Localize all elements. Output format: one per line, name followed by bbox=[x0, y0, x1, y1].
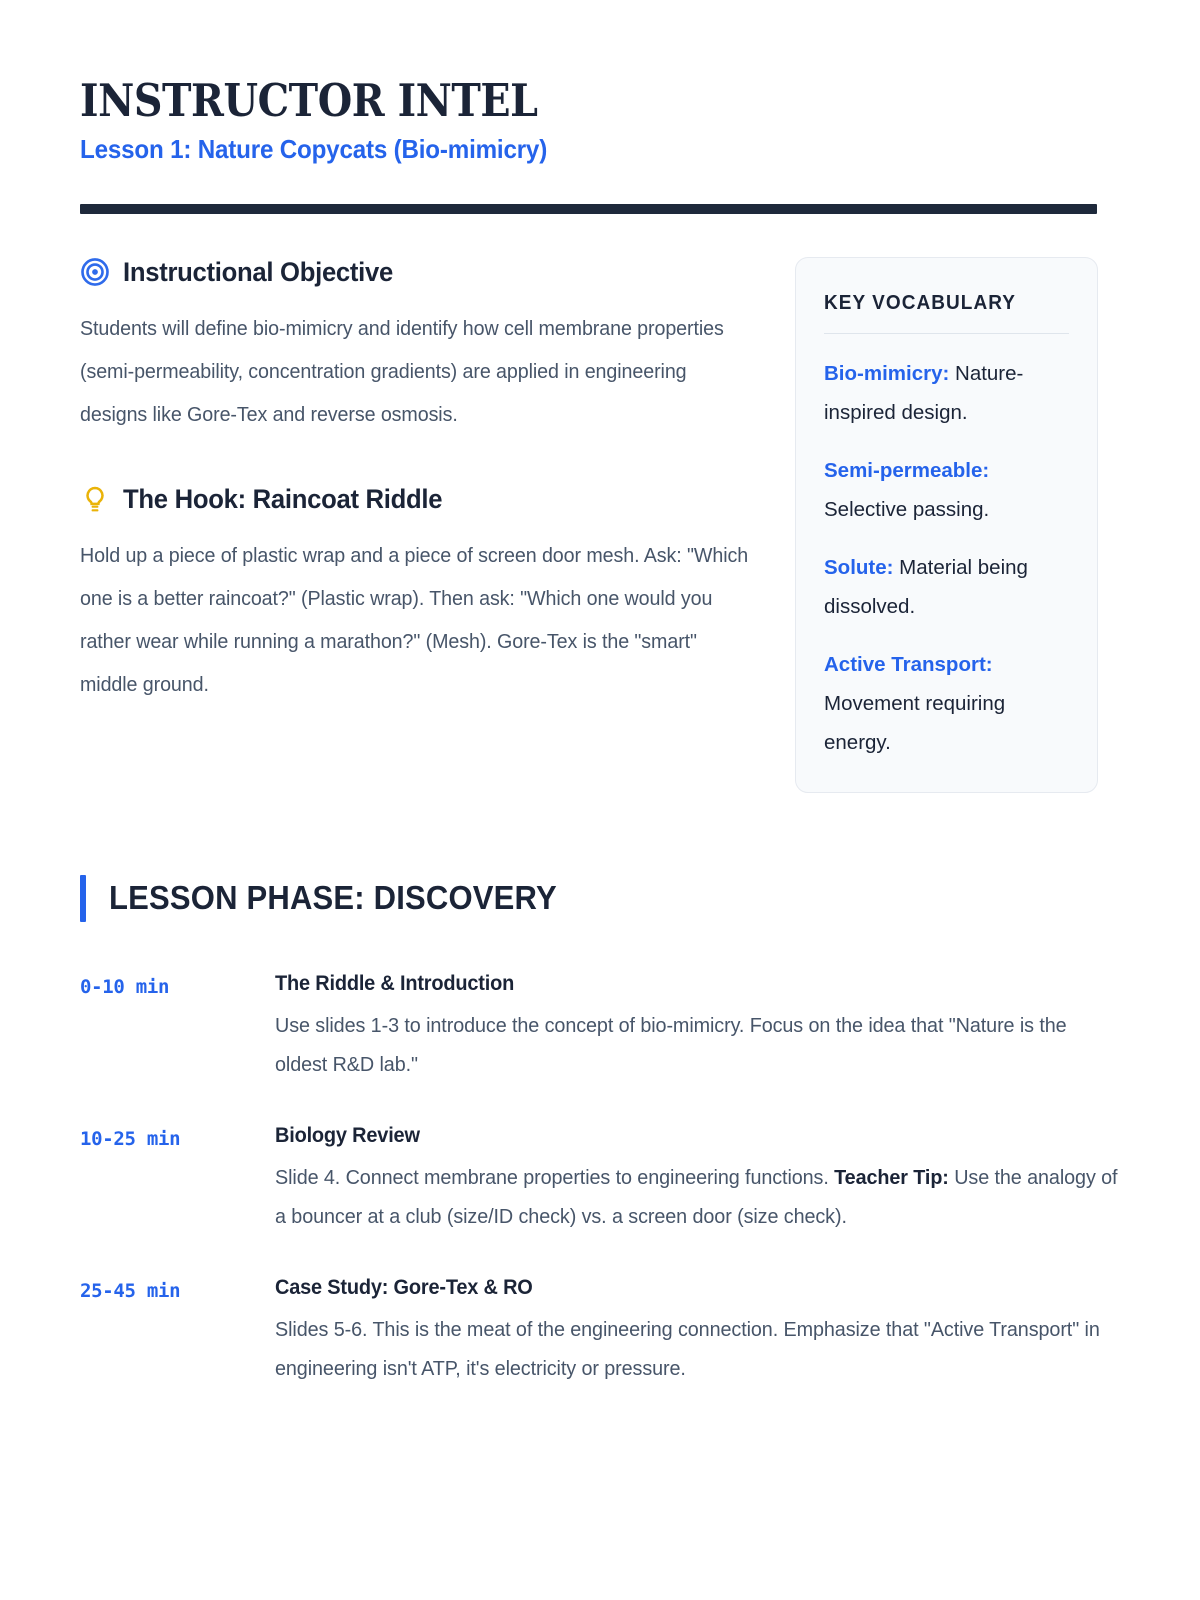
vocabulary-term: Bio-mimicry: bbox=[824, 362, 949, 385]
timeline-row: 25-45 min Case Study: Gore-Tex & RO Slid… bbox=[80, 1271, 1120, 1388]
objective-heading: Instructional Objective bbox=[123, 257, 393, 288]
timeline-time: 0-10 min bbox=[80, 967, 275, 1004]
vocabulary-divider bbox=[824, 333, 1069, 334]
timeline-desc-pre: Slides 5-6. This is the meat of the engi… bbox=[275, 1318, 1100, 1380]
vocabulary-term: Semi-permeable: bbox=[824, 459, 989, 482]
main-content: Instructional Objective Students will de… bbox=[80, 257, 1120, 793]
lightbulb-icon bbox=[80, 484, 110, 514]
hook-section: The Hook: Raincoat Riddle Hold up a piec… bbox=[80, 484, 756, 706]
lesson-phase-heading: LESSON PHASE: DISCOVERY bbox=[109, 879, 557, 917]
timeline-time: 10-25 min bbox=[80, 1119, 275, 1156]
vocabulary-title: KEY VOCABULARY bbox=[824, 292, 1057, 315]
timeline-title: Case Study: Gore-Tex & RO bbox=[275, 1271, 1078, 1305]
vocabulary-definition: Selective passing. bbox=[824, 498, 989, 521]
vocabulary-term: Active Transport: bbox=[824, 653, 993, 676]
hook-heading: The Hook: Raincoat Riddle bbox=[123, 484, 442, 515]
timeline-title: Biology Review bbox=[275, 1119, 1078, 1153]
timeline-desc-pre: Use slides 1-3 to introduce the concept … bbox=[275, 1014, 1067, 1076]
page-title: INSTRUCTOR INTEL bbox=[80, 78, 995, 124]
document-header: INSTRUCTOR INTEL Lesson 1: Nature Copyca… bbox=[80, 78, 1120, 214]
vocabulary-entry: Active Transport: Movement requiring ene… bbox=[824, 645, 1069, 762]
objective-section: Instructional Objective Students will de… bbox=[80, 257, 756, 436]
left-column: Instructional Objective Students will de… bbox=[80, 257, 756, 706]
vocabulary-definition: Movement requiring energy. bbox=[824, 692, 1005, 754]
timeline-desc-emphasis: Teacher Tip: bbox=[834, 1166, 949, 1189]
vocabulary-card: KEY VOCABULARY Bio-mimicry: Nature-inspi… bbox=[795, 257, 1098, 793]
timeline-body: Biology Review Slide 4. Connect membrane… bbox=[275, 1119, 1120, 1236]
objective-heading-row: Instructional Objective bbox=[80, 257, 756, 288]
vocabulary-term: Solute: bbox=[824, 556, 893, 579]
lesson-phase-heading-row: LESSON PHASE: DISCOVERY bbox=[80, 875, 1120, 922]
hook-heading-row: The Hook: Raincoat Riddle bbox=[80, 484, 756, 515]
timeline-desc-pre: Slide 4. Connect membrane properties to … bbox=[275, 1166, 834, 1189]
timeline-row: 0-10 min The Riddle & Introduction Use s… bbox=[80, 967, 1120, 1084]
objective-text: Students will define bio-mimicry and ide… bbox=[80, 307, 755, 436]
timeline-description: Slides 5-6. This is the meat of the engi… bbox=[275, 1310, 1119, 1388]
vocabulary-entry: Bio-mimicry: Nature-inspired design. bbox=[824, 354, 1069, 432]
timeline-title: The Riddle & Introduction bbox=[275, 967, 1078, 1001]
hook-text: Hold up a piece of plastic wrap and a pi… bbox=[80, 534, 755, 706]
target-icon bbox=[80, 257, 110, 287]
timeline-body: The Riddle & Introduction Use slides 1-3… bbox=[275, 967, 1120, 1084]
header-divider bbox=[80, 204, 1097, 214]
timeline-body: Case Study: Gore-Tex & RO Slides 5-6. Th… bbox=[275, 1271, 1120, 1388]
timeline-row: 10-25 min Biology Review Slide 4. Connec… bbox=[80, 1119, 1120, 1236]
vocabulary-entry: Solute: Material being dissolved. bbox=[824, 548, 1069, 626]
lesson-subtitle: Lesson 1: Nature Copycats (Bio-mimicry) bbox=[80, 134, 1047, 165]
phase-accent-bar bbox=[80, 875, 86, 922]
instructor-intel-document: INSTRUCTOR INTEL Lesson 1: Nature Copyca… bbox=[0, 0, 1200, 1600]
timeline-description: Slide 4. Connect membrane properties to … bbox=[275, 1158, 1119, 1236]
vocabulary-entry: Semi-permeable: Selective passing. bbox=[824, 451, 1069, 529]
timeline-time: 25-45 min bbox=[80, 1271, 275, 1308]
timeline-description: Use slides 1-3 to introduce the concept … bbox=[275, 1006, 1119, 1084]
lesson-timeline: 0-10 min The Riddle & Introduction Use s… bbox=[80, 967, 1120, 1388]
vocabulary-panel: KEY VOCABULARY Bio-mimicry: Nature-inspi… bbox=[795, 257, 1098, 793]
